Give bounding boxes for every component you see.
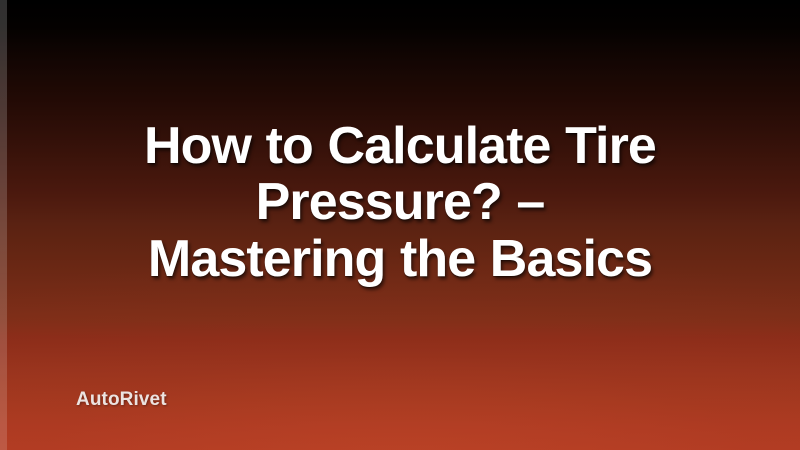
article-hero-banner: How to Calculate Tire Pressure? – Master… bbox=[0, 0, 800, 450]
banner-content: How to Calculate Tire Pressure? – Master… bbox=[0, 0, 800, 450]
brand-label: AutoRivet bbox=[76, 389, 167, 411]
page-title: How to Calculate Tire Pressure? – Master… bbox=[0, 118, 800, 287]
